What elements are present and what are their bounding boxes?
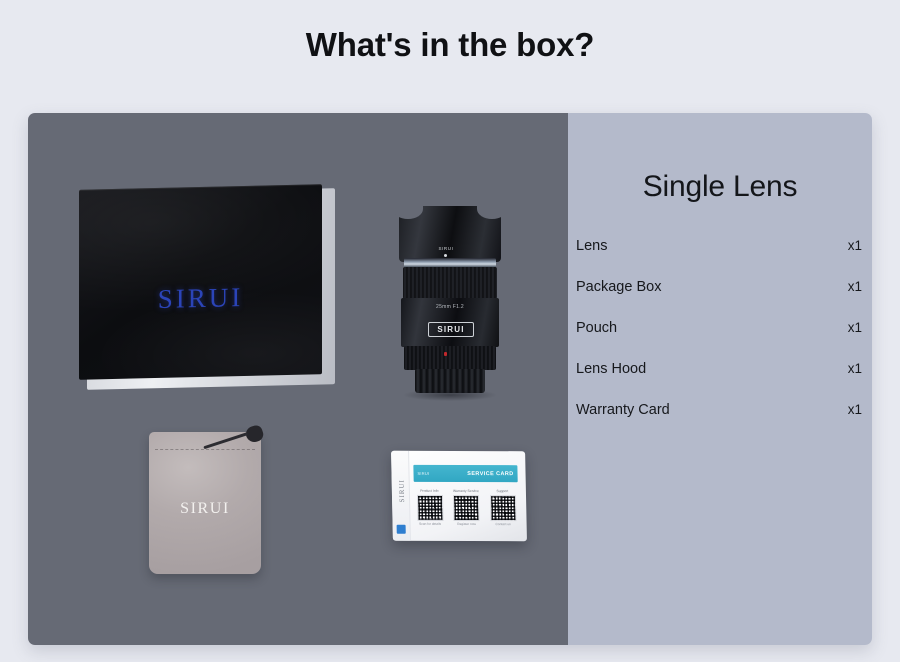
warranty-card-image: SIRUI SIRUI SERVICE CARD Product Info Sc… bbox=[391, 451, 527, 541]
lens-hood-notch-right bbox=[477, 199, 507, 219]
content-item-qty: x1 bbox=[848, 238, 862, 253]
warranty-card-qr-row: Product Info Scan for details Warranty S… bbox=[414, 489, 519, 526]
lens-hood-notch-left bbox=[393, 199, 423, 219]
warranty-card-spine-brand: SIRUI bbox=[397, 471, 406, 511]
qr-cell: Warranty Service Register now bbox=[450, 489, 482, 526]
lens-hood bbox=[399, 206, 501, 262]
pouch-image: SIRUI bbox=[141, 424, 269, 576]
content-item-label: Lens Hood bbox=[576, 361, 646, 377]
package-box-image: SIRUI bbox=[79, 187, 328, 382]
box-contents-list: Lens x1 Package Box x1 Pouch x1 Lens Hoo… bbox=[576, 238, 862, 443]
qr-sublabel: Scan for details bbox=[415, 522, 446, 526]
content-item-qty: x1 bbox=[848, 279, 862, 294]
list-item: Pouch x1 bbox=[576, 320, 862, 361]
lens-hood-brand-label: SIRUI bbox=[395, 246, 497, 251]
content-item-qty: x1 bbox=[848, 402, 862, 417]
content-item-label: Pouch bbox=[576, 320, 617, 336]
contents-info-panel: Single Lens Lens x1 Package Box x1 Pouch… bbox=[568, 113, 872, 645]
list-item: Package Box x1 bbox=[576, 279, 862, 320]
list-item: Lens x1 bbox=[576, 238, 862, 279]
warranty-card-logo-mark bbox=[397, 525, 406, 534]
warranty-card-header: SIRUI SERVICE CARD bbox=[413, 465, 517, 482]
lens-shadow bbox=[403, 389, 497, 401]
qr-cell: Product Info Scan for details bbox=[414, 489, 446, 526]
product-photo-panel: SIRUI SIRUI SIRUI 25mm F1.2 SIRUI bbox=[28, 113, 568, 645]
content-item-label: Package Box bbox=[576, 279, 661, 295]
lens-brand-badge: SIRUI bbox=[428, 322, 474, 337]
qr-caption: Product Info bbox=[414, 489, 445, 493]
page-title: What's in the box? bbox=[0, 26, 900, 64]
whats-in-the-box-card: SIRUI SIRUI SIRUI 25mm F1.2 SIRUI bbox=[28, 113, 872, 645]
qr-code-icon bbox=[489, 495, 516, 521]
lens-upper-barrel bbox=[403, 267, 497, 299]
qr-sublabel: Contact us bbox=[488, 522, 519, 526]
lens-hood-alignment-dot bbox=[444, 254, 447, 257]
variant-title: Single Lens bbox=[568, 170, 872, 204]
lens-spec-label: 25mm F1.2 bbox=[401, 304, 499, 310]
lens-image: SIRUI 25mm F1.2 SIRUI bbox=[395, 206, 505, 398]
content-item-label: Warranty Card bbox=[576, 402, 670, 418]
qr-code-icon bbox=[453, 494, 480, 520]
lens-mount-index-dot bbox=[444, 352, 447, 356]
content-item-label: Lens bbox=[576, 238, 607, 254]
qr-cell: Support Contact us bbox=[487, 489, 519, 526]
list-item: Warranty Card x1 bbox=[576, 402, 862, 443]
list-item: Lens Hood x1 bbox=[576, 361, 862, 402]
warranty-card-header-brand: SIRUI bbox=[417, 471, 429, 476]
qr-caption: Warranty Service bbox=[450, 489, 481, 493]
content-item-qty: x1 bbox=[848, 361, 862, 376]
qr-sublabel: Register now bbox=[451, 522, 482, 526]
qr-caption: Support bbox=[487, 489, 518, 493]
pouch-brand-label: SIRUI bbox=[149, 500, 261, 518]
content-item-qty: x1 bbox=[848, 320, 862, 335]
lens-lower-barrel: 25mm F1.2 SIRUI bbox=[401, 298, 499, 347]
package-box-brand-label: SIRUI bbox=[79, 280, 322, 317]
warranty-card-header-title: SERVICE CARD bbox=[467, 471, 513, 477]
lens-focus-ring bbox=[404, 346, 496, 370]
qr-code-icon bbox=[416, 494, 443, 520]
